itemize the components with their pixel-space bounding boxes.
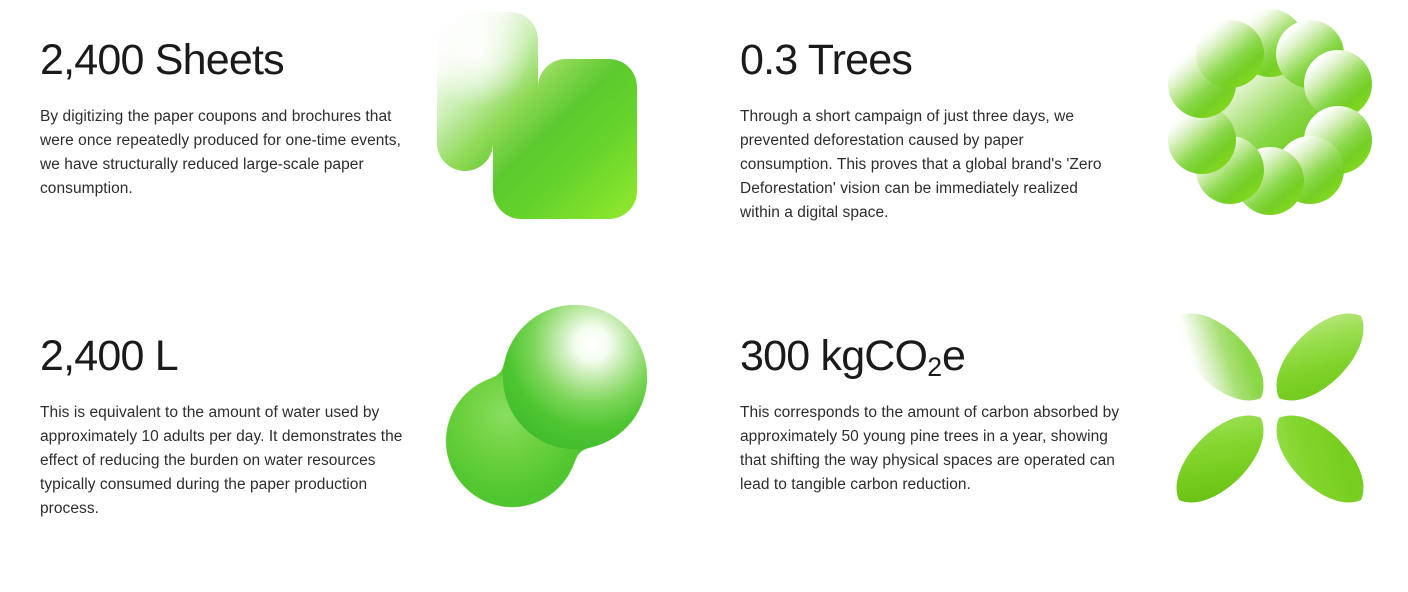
stat-description: This is equivalent to the amount of wate… [40, 401, 420, 521]
stat-description: This corresponds to the amount of carbon… [740, 401, 1120, 497]
stat-text-block: 2,400 Sheets By digitizing the paper cou… [0, 0, 420, 201]
stat-card-trees: 0.3 Trees Through a short campaign of ju… [720, 0, 1408, 296]
stepped-blocks-icon [437, 12, 637, 219]
stat-value: 0.3 Trees [740, 38, 1140, 83]
stat-card-carbon: 300 kgCO2e This corresponds to the amoun… [720, 296, 1408, 592]
stat-graphic-area [420, 0, 720, 296]
stat-value-suffix: e [942, 332, 965, 380]
stat-value: 300 kgCO2e [740, 334, 1140, 379]
stat-value: 2,400 L [40, 334, 420, 379]
stat-graphic-area [1140, 296, 1408, 592]
stat-text-block: 0.3 Trees Through a short campaign of ju… [720, 0, 1140, 225]
stat-text-block: 2,400 L This is equivalent to the amount… [0, 296, 420, 521]
stat-description: By digitizing the paper coupons and broc… [40, 105, 420, 201]
stat-value-prefix: 300 kgCO [740, 332, 927, 380]
scalloped-blob-icon [1168, 9, 1372, 215]
stat-value: 2,400 Sheets [40, 38, 420, 83]
four-petal-icon [1168, 307, 1372, 509]
stat-value-subscript: 2 [927, 352, 942, 382]
stat-description: Through a short campaign of just three d… [740, 105, 1120, 225]
stat-graphic-area [1140, 0, 1408, 296]
impact-stats-grid: 2,400 Sheets By digitizing the paper cou… [0, 0, 1408, 592]
stat-card-sheets: 2,400 Sheets By digitizing the paper cou… [0, 0, 720, 296]
stat-graphic-area [420, 296, 720, 592]
stat-card-water: 2,400 L This is equivalent to the amount… [0, 296, 720, 592]
stat-text-block: 300 kgCO2e This corresponds to the amoun… [720, 296, 1140, 497]
merged-spheres-icon [442, 305, 647, 510]
